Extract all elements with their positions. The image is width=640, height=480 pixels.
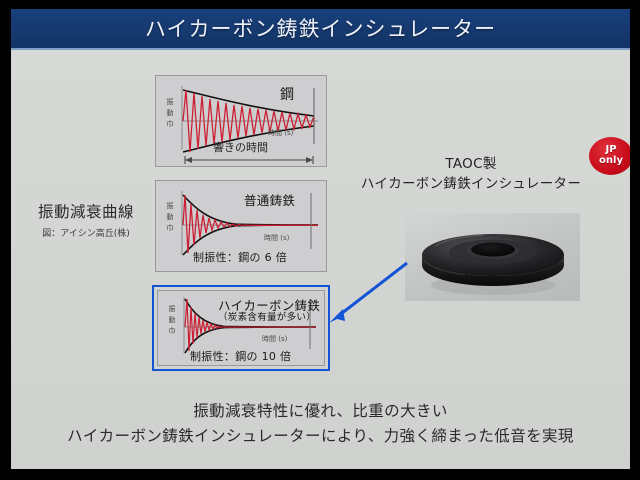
chart-panel-ordinary-cast-iron: 振動巾 時間 (s) 普通鋳鉄 制振性：鋼の 6 倍 bbox=[155, 180, 327, 272]
chart-steel-ylabel: 振動巾 bbox=[165, 97, 175, 130]
bottom-caption-line2: ハイカーボン鋳鉄インシュレーターにより、力強く締まった低音を実現 bbox=[11, 424, 630, 449]
product-label-line1: TAOC製 bbox=[341, 154, 601, 174]
insulator-illustration bbox=[405, 213, 580, 301]
chart-ordinary-cast-iron-ylabel: 振動巾 bbox=[165, 201, 175, 234]
slide-frame: ハイカーボン鋳鉄インシュレーター 振動減衰曲線 図：アイシン高丘(株) bbox=[0, 0, 640, 480]
chart-steel-xlabel: 時間 (s) bbox=[268, 128, 293, 138]
slide-title: ハイカーボン鋳鉄インシュレーター bbox=[11, 13, 630, 43]
jp-only-badge-line1: JP bbox=[589, 144, 630, 155]
vibration-decay-caption: 振動減衰曲線 図：アイシン高丘(株) bbox=[21, 200, 151, 239]
chart-steel-title: 鋼 bbox=[280, 84, 294, 104]
highlight-box-high-carbon bbox=[152, 285, 330, 371]
chart-ordinary-cast-iron-title: 普通鋳鉄 bbox=[244, 190, 295, 209]
jp-only-badge-line2: only bbox=[589, 155, 630, 166]
slide-body: ハイカーボン鋳鉄インシュレーター 振動減衰曲線 図：アイシン高丘(株) bbox=[11, 9, 630, 469]
vibration-decay-heading: 振動減衰曲線 bbox=[21, 200, 151, 222]
jp-only-badge: JP only bbox=[589, 137, 630, 175]
chart-ordinary-cast-iron-xlabel: 時間 (s) bbox=[264, 233, 289, 243]
slide-title-bar: ハイカーボン鋳鉄インシュレーター bbox=[11, 9, 630, 50]
vibration-decay-credit: 図：アイシン高丘(株) bbox=[21, 226, 151, 239]
bottom-caption: 振動減衰特性に優れ、比重の大きい ハイカーボン鋳鉄インシュレーターにより、力強く… bbox=[11, 399, 630, 449]
bottom-caption-line1: 振動減衰特性に優れ、比重の大きい bbox=[11, 399, 630, 424]
pointer-arrow-icon bbox=[321, 259, 411, 329]
chart-ordinary-cast-iron-damping-note: 制振性：鋼の 6 倍 bbox=[193, 249, 287, 265]
product-photo-insulator bbox=[405, 213, 580, 301]
product-label-line2: ハイカーボン鋳鉄インシュレーター bbox=[341, 174, 601, 194]
chart-panel-steel: 振動巾 時間 (s) 鋼 響きの時間 bbox=[155, 75, 327, 167]
chart-steel-span-label: 響きの時間 bbox=[213, 139, 268, 155]
product-label: TAOC製 ハイカーボン鋳鉄インシュレーター bbox=[341, 154, 601, 194]
